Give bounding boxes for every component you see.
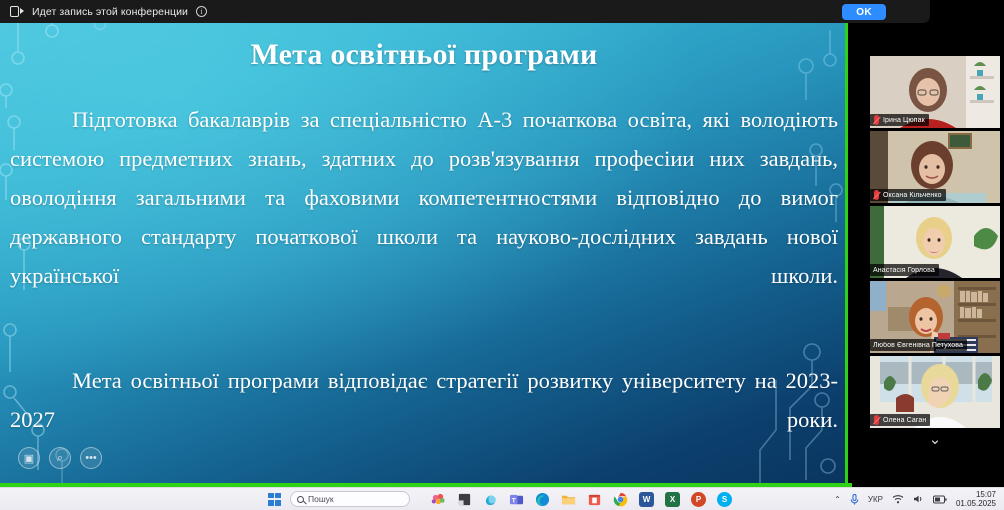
- participant-name-4: Любов Євгенівна Петухова: [873, 342, 963, 349]
- participant-nametag-5: Олена Саган: [870, 414, 930, 426]
- clock-date: 01.05.2025: [956, 499, 996, 508]
- excel-app-letter: X: [670, 495, 675, 504]
- skype-app-letter: S: [722, 495, 727, 504]
- more-options-icon: •••: [85, 452, 97, 464]
- mic-muted-icon: [873, 190, 880, 200]
- zoom-magnifier-button[interactable]: ⌕: [49, 447, 71, 469]
- battery-icon[interactable]: [933, 495, 947, 504]
- participant-nametag-2: Оксана Кільченко: [870, 189, 946, 201]
- participant-tile-3[interactable]: Анастасія Горлова: [870, 206, 1000, 278]
- participant-tile-1[interactable]: Ірина Цюпак: [870, 56, 1000, 128]
- search-icon: [297, 496, 304, 503]
- screen-root: Мета освітньої програми Підготовка бакал…: [0, 0, 1004, 510]
- more-options-button[interactable]: •••: [80, 447, 102, 469]
- microphone-icon[interactable]: [850, 494, 859, 505]
- skype-app-icon[interactable]: S: [717, 492, 732, 507]
- participant-name-1: Ірина Цюпак: [883, 117, 925, 124]
- taskbar-search-box[interactable]: Пошук: [290, 491, 410, 507]
- slide-paragraph-2: Мета освітньої програми відповідає страт…: [10, 361, 838, 478]
- participant-video-strip[interactable]: Ірина Цюпак Оксана Кільченко: [866, 0, 1004, 487]
- microsoft-store-icon[interactable]: [587, 492, 602, 507]
- participant-nametag-1: Ірина Цюпак: [870, 114, 929, 126]
- word-app-icon[interactable]: W: [639, 492, 654, 507]
- wifi-icon[interactable]: [892, 494, 904, 504]
- speaker-icon[interactable]: [913, 494, 924, 504]
- tray-overflow-icon[interactable]: ⌃: [834, 495, 841, 504]
- start-button-icon[interactable]: [268, 493, 281, 506]
- slide-accent-border-right: [845, 0, 848, 483]
- chevron-down-icon[interactable]: ⌄: [866, 430, 1004, 448]
- slideshow-controls[interactable]: ▣ ⌕ •••: [18, 447, 102, 469]
- paint-app-icon[interactable]: [431, 492, 446, 507]
- teams-app-icon[interactable]: T: [509, 492, 524, 507]
- participant-tile-2[interactable]: Оксана Кільченко: [870, 131, 1000, 203]
- mic-muted-icon: [873, 115, 880, 125]
- powerpoint-app-icon[interactable]: P: [691, 492, 706, 507]
- chrome-browser-icon[interactable]: [613, 492, 628, 507]
- slide-canvas: Мета освітньої програми Підготовка бакал…: [0, 0, 848, 483]
- excel-app-icon[interactable]: X: [665, 492, 680, 507]
- word-app-letter: W: [643, 495, 651, 504]
- presentation-slide-area[interactable]: Мета освітньої програми Підготовка бакал…: [0, 0, 852, 487]
- mic-muted-icon: [873, 415, 880, 425]
- copilot-app-icon[interactable]: [483, 492, 498, 507]
- participant-name-2: Оксана Кільченко: [883, 192, 942, 199]
- powerpoint-app-letter: P: [696, 495, 701, 504]
- svg-text:T: T: [512, 497, 516, 504]
- slide-title: Мета освітньої програми: [0, 38, 848, 72]
- recording-ok-button[interactable]: OK: [842, 4, 886, 20]
- participant-nametag-4: Любов Євгенівна Петухова: [870, 339, 967, 351]
- recording-message: Идет запись этой конференции: [32, 6, 188, 18]
- file-explorer-icon[interactable]: [561, 492, 576, 507]
- windows-taskbar[interactable]: Пошук T: [0, 487, 1004, 510]
- zoom-magnifier-icon: ⌕: [57, 452, 63, 465]
- participant-name-3: Анастасія Горлова: [873, 267, 935, 274]
- slide-thumbnails-icon: ▣: [24, 452, 34, 465]
- taskbar-clock[interactable]: 15:07 01.05.2025: [956, 490, 996, 508]
- edge-browser-icon[interactable]: [535, 492, 550, 507]
- taskbar-app-icons[interactable]: T: [431, 492, 732, 507]
- participant-tile-4[interactable]: Любов Євгенівна Петухова: [870, 281, 1000, 353]
- video-recording-icon: [10, 6, 24, 17]
- language-indicator[interactable]: УКР: [868, 495, 883, 504]
- slide-paragraph-1: Підготовка бакалаврів за спеціальністю А…: [10, 100, 838, 334]
- clock-time: 15:07: [956, 490, 996, 499]
- participant-tile-5[interactable]: Олена Саган: [870, 356, 1000, 428]
- system-tray[interactable]: ⌃ УКР 15:07 01.0: [834, 490, 996, 508]
- slide-body-text: Підготовка бакалаврів за спеціальністю А…: [10, 100, 838, 478]
- participant-scrollbar-track[interactable]: [856, 0, 862, 487]
- participant-name-5: Олена Саган: [883, 417, 926, 424]
- widgets-app-icon[interactable]: [457, 492, 472, 507]
- participant-nametag-3: Анастасія Горлова: [870, 264, 939, 276]
- search-placeholder: Пошук: [308, 494, 334, 504]
- info-icon[interactable]: i: [196, 6, 207, 17]
- slide-thumbnails-button[interactable]: ▣: [18, 447, 40, 469]
- recording-notification-bar: Идет запись этой конференции i OK: [0, 0, 930, 23]
- taskbar-center-group[interactable]: Пошук T: [268, 491, 732, 507]
